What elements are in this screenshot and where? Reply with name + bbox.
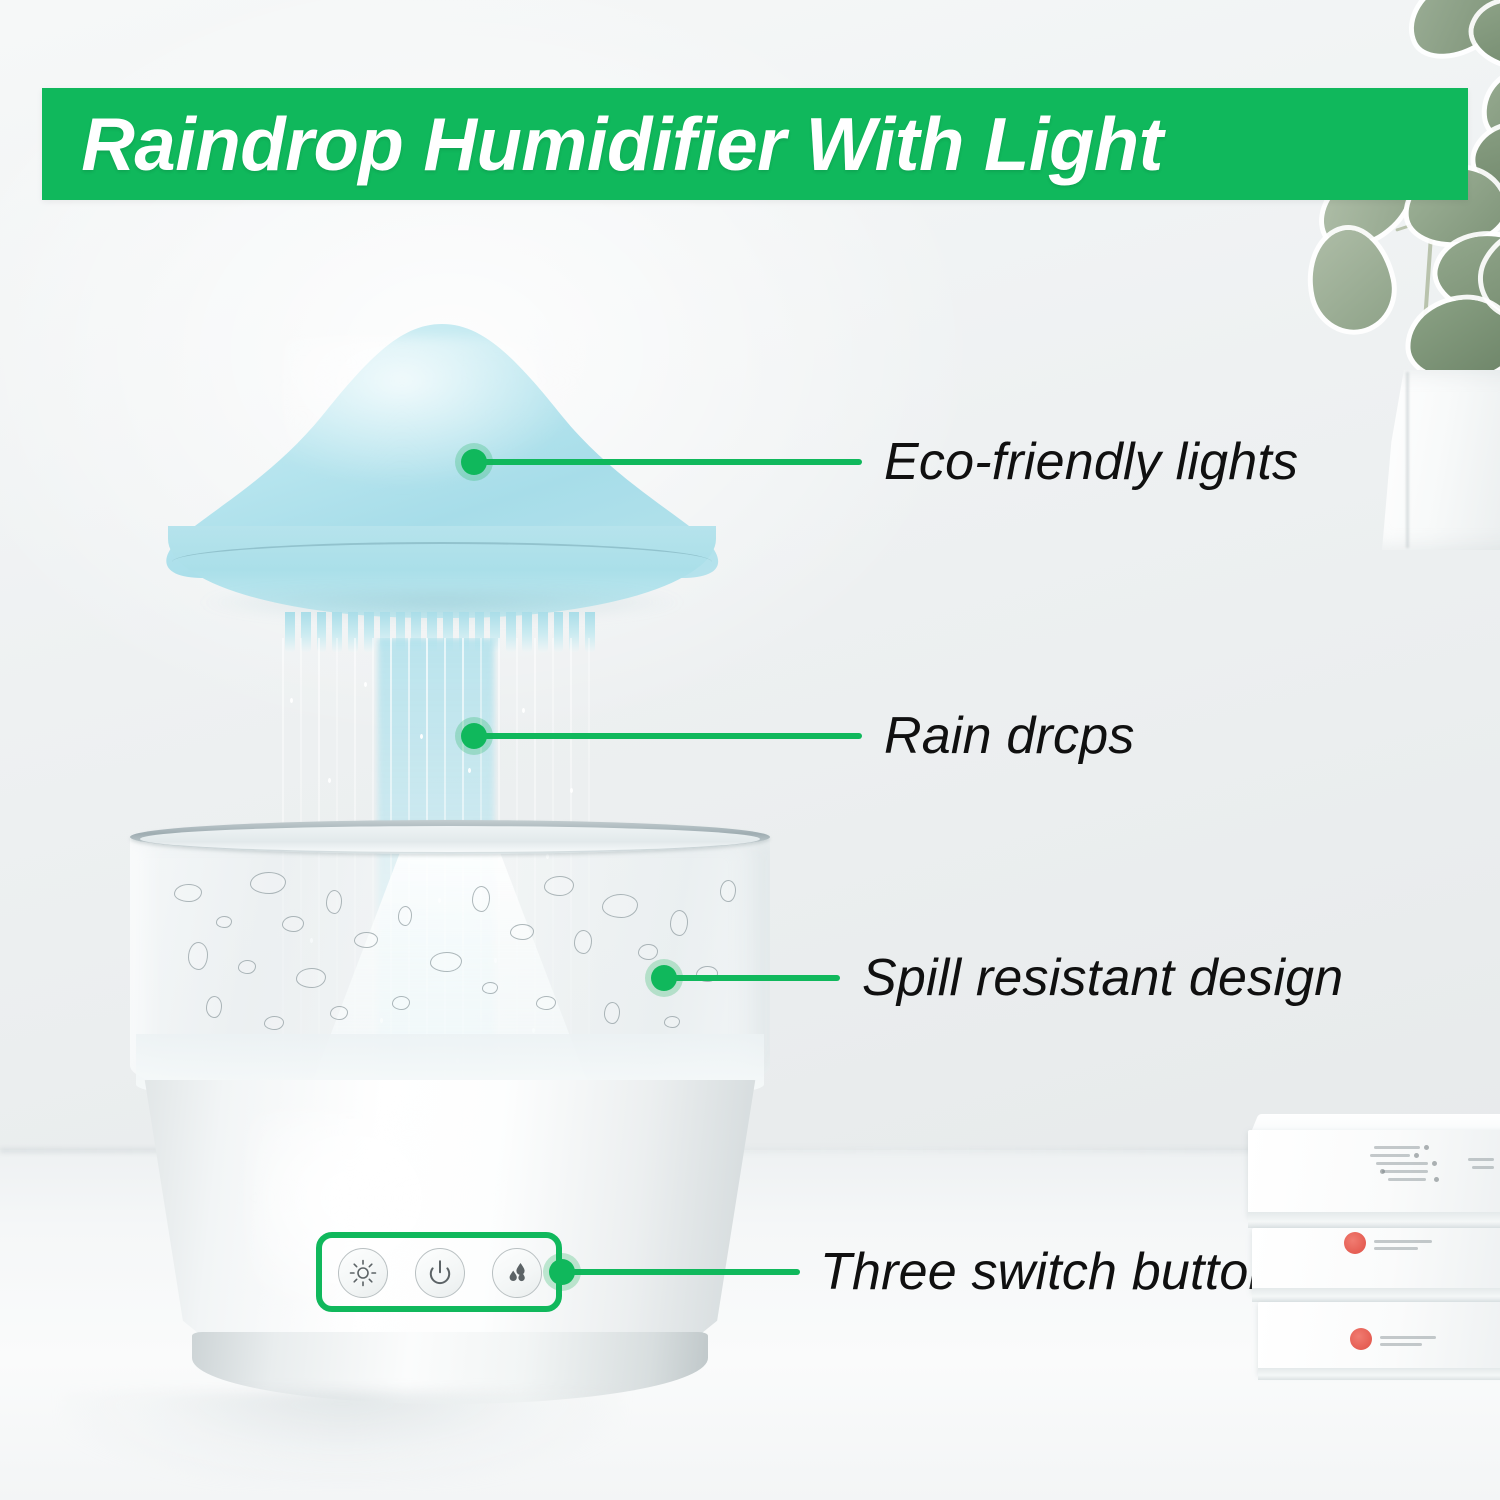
page-title: Raindrop Humidifier With Light: [48, 101, 1163, 187]
callout-dot: [645, 959, 683, 997]
power-icon: [425, 1258, 455, 1288]
book-seal-icon: [1350, 1328, 1372, 1350]
callout-leader-line: [562, 1269, 800, 1275]
callout-dot: [455, 443, 493, 481]
water-drops-icon: [502, 1258, 532, 1288]
stacked-books: [1248, 1100, 1500, 1400]
vase-fold: [1406, 372, 1409, 548]
callout-label-rain-drops: Rain drcps: [884, 706, 1135, 766]
callout-dot: [543, 1253, 581, 1291]
book-item: [1252, 1228, 1500, 1292]
control-panel: [316, 1232, 562, 1312]
sun-icon: [348, 1258, 378, 1288]
callout-leader-line: [474, 459, 862, 465]
table-reflection: [62, 1392, 622, 1484]
title-banner: Raindrop Humidifier With Light: [42, 88, 1468, 200]
cloud-cap[interactable]: [162, 320, 722, 620]
callout-leader-line: [664, 975, 840, 981]
callout-label-eco-friendly-lights: Eco-friendly lights: [884, 432, 1298, 492]
power-button[interactable]: [415, 1248, 465, 1298]
mist-button[interactable]: [492, 1248, 542, 1298]
callout-leader-line: [474, 733, 862, 739]
book-item: [1258, 1302, 1500, 1374]
product-infographic: Eco-friendly lights Rain drcps Spill res…: [0, 0, 1500, 1500]
eucalyptus-plant: [1290, 0, 1500, 540]
callout-label-spill-resistant-design: Spill resistant design: [862, 948, 1343, 1008]
light-button[interactable]: [338, 1248, 388, 1298]
plant-vase: [1382, 370, 1500, 550]
callout-dot: [455, 717, 493, 755]
book-item: [1248, 1130, 1500, 1216]
callout-label-three-switch-button: Three switch button: [820, 1242, 1278, 1302]
book-seal-icon: [1344, 1232, 1366, 1254]
